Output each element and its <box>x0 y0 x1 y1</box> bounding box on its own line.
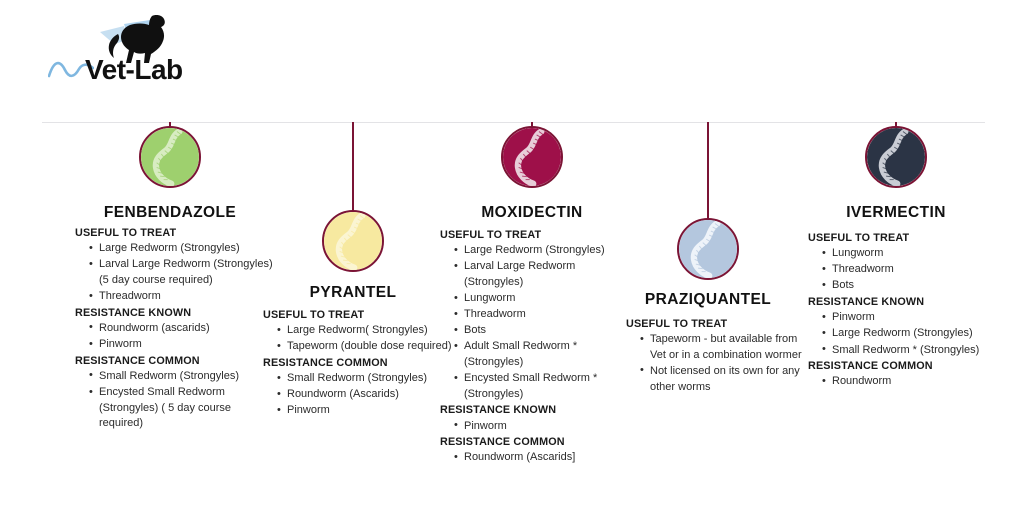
list-item: Roundworm <box>822 374 992 390</box>
section-heading: RESISTANCE COMMON <box>263 356 456 370</box>
list-item: Small Redworm * (Strongyles) <box>822 343 992 359</box>
list-item: Tapeworm (double dose required) <box>277 339 456 355</box>
list-item: Lungworm <box>822 246 992 262</box>
timeline-rule <box>42 122 985 123</box>
section-heading: USEFUL TO TREAT <box>808 231 992 245</box>
infographic-page: Vet-Lab FENBENDAZOLEUSEFUL TO TREATLarge… <box>0 0 1024 526</box>
section-heading: RESISTANCE KNOWN <box>75 306 278 320</box>
list-item: Roundworm (Ascarids] <box>454 450 632 466</box>
section-heading: RESISTANCE COMMON <box>808 359 992 373</box>
section-list: PinwormLarge Redworm (Strongyles)Small R… <box>808 310 992 358</box>
worm-badge-icon <box>501 126 563 188</box>
timeline-stem <box>352 122 354 212</box>
drug-title-pyrantel: PYRANTEL <box>250 284 456 302</box>
section-list: Roundworm (ascarids)Pinworm <box>75 321 278 353</box>
drug-details-moxidectin: USEFUL TO TREATLarge Redworm (Strongyles… <box>432 228 632 467</box>
section-heading: USEFUL TO TREAT <box>440 228 632 242</box>
section-heading: RESISTANCE KNOWN <box>440 403 632 417</box>
drug-details-pyrantel: USEFUL TO TREATLarge Redworm( Strongyles… <box>250 308 456 420</box>
drug-details-ivermectin: USEFUL TO TREATLungwormThreadwormBotsRES… <box>800 231 992 391</box>
list-item: Bots <box>822 278 992 294</box>
section-heading: RESISTANCE COMMON <box>75 354 278 368</box>
list-item: Large Redworm (Strongyles) <box>454 243 632 259</box>
section-list: Roundworm (Ascarids] <box>440 450 632 466</box>
section-list: Tapeworm - but available from Vet or in … <box>626 332 804 395</box>
section-list: Small Redworm (Strongyles)Encysted Small… <box>75 369 278 432</box>
list-item: Not licensed on its own for any other wo… <box>640 364 804 395</box>
section-heading: USEFUL TO TREAT <box>626 317 804 331</box>
drug-title-praziquantel: PRAZIQUANTEL <box>612 291 804 309</box>
list-item: Bots <box>454 323 632 339</box>
worm-badge-icon <box>865 126 927 188</box>
section-heading: RESISTANCE COMMON <box>440 435 632 449</box>
section-list: Pinworm <box>440 419 632 435</box>
list-item: Pinworm <box>277 403 456 419</box>
section-list: LungwormThreadwormBots <box>808 246 992 294</box>
list-item: Tapeworm - but available from Vet or in … <box>640 332 804 363</box>
section-list: Roundworm <box>808 374 992 390</box>
section-list: Large Redworm (Strongyles)Larval Large R… <box>440 243 632 402</box>
brand-name: Vet-Lab <box>85 56 183 84</box>
worm-badge-icon <box>139 126 201 188</box>
drug-details-praziquantel: USEFUL TO TREATTapeworm - but available … <box>612 317 804 396</box>
section-list: Small Redworm (Strongyles)Roundworm (Asc… <box>263 371 456 419</box>
list-item: Larval Large Redworm (Strongyles) <box>454 259 632 290</box>
drug-title-moxidectin: MOXIDECTIN <box>432 204 632 222</box>
list-item: Encysted Small Redworm * (Strongyles) <box>454 371 632 402</box>
list-item: Large Redworm (Strongyles) <box>822 326 992 342</box>
drug-title-fenbendazole: FENBENDAZOLE <box>62 204 278 222</box>
list-item: Large Redworm (Strongyles) <box>89 241 278 257</box>
list-item: Lungworm <box>454 291 632 307</box>
section-list: Large Redworm( Strongyles)Tapeworm (doub… <box>263 323 456 355</box>
list-item: Adult Small Redworm * (Strongyles) <box>454 339 632 370</box>
list-item: Large Redworm( Strongyles) <box>277 323 456 339</box>
drug-details-fenbendazole: USEFUL TO TREATLarge Redworm (Strongyles… <box>62 226 278 433</box>
drug-title-ivermectin: IVERMECTIN <box>800 204 992 222</box>
list-item: Pinworm <box>454 419 632 435</box>
section-heading: USEFUL TO TREAT <box>263 308 456 322</box>
worm-badge-icon <box>322 210 384 272</box>
timeline-stem <box>707 122 709 220</box>
list-item: Small Redworm (Strongyles) <box>277 371 456 387</box>
list-item: Pinworm <box>822 310 992 326</box>
brand-logo: Vet-Lab <box>48 14 238 94</box>
list-item: Threadworm <box>454 307 632 323</box>
list-item: Roundworm (Ascarids) <box>277 387 456 403</box>
section-heading: USEFUL TO TREAT <box>75 226 278 240</box>
worm-badge-icon <box>677 218 739 280</box>
list-item: Threadworm <box>822 262 992 278</box>
section-heading: RESISTANCE KNOWN <box>808 295 992 309</box>
section-list: Large Redworm (Strongyles)Larval Large R… <box>75 241 278 304</box>
